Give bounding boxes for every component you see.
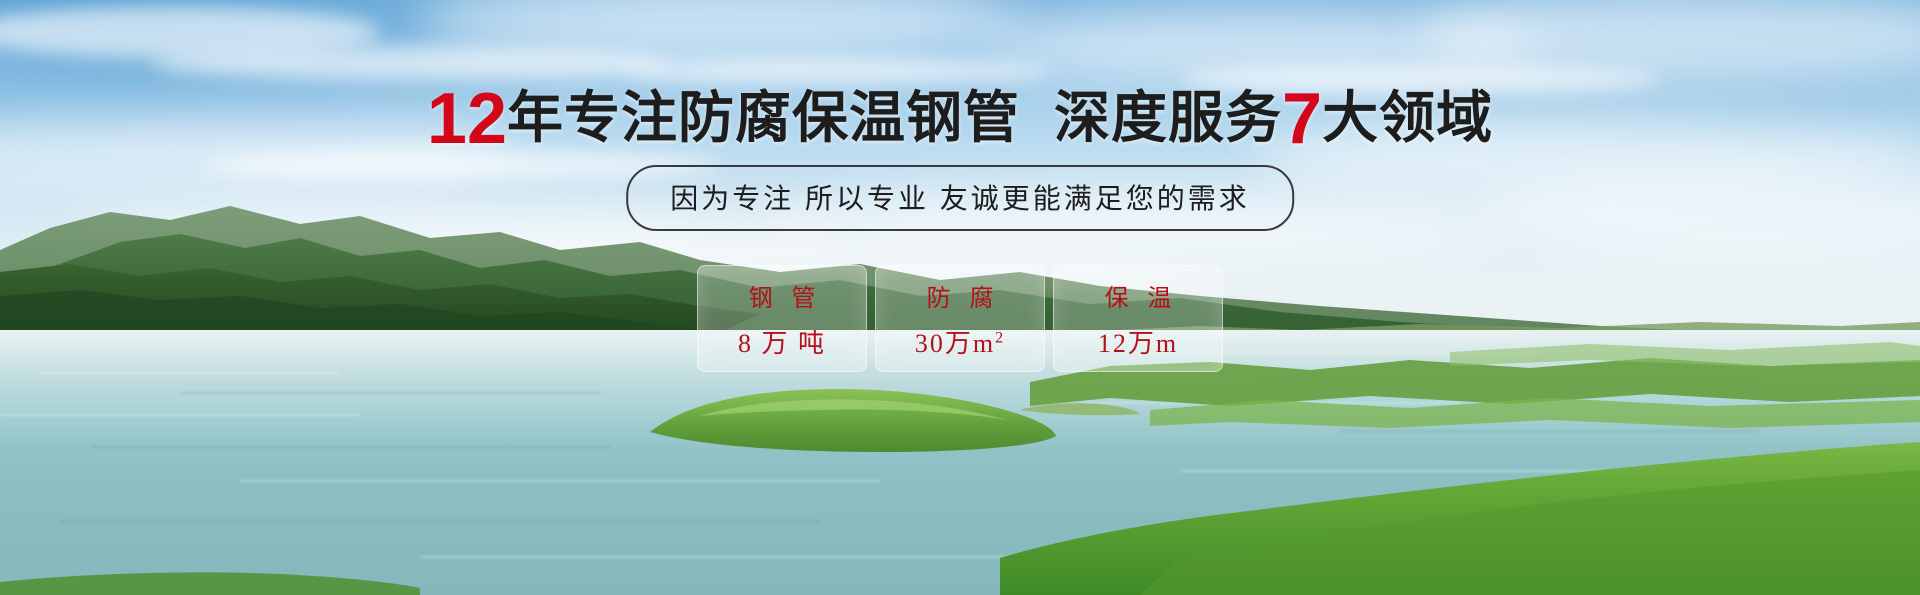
headline: 12年专注防腐保温钢管深度服务7大领域 — [0, 83, 1920, 155]
water-ripple — [60, 520, 820, 522]
stat-card-title: 防 腐 — [921, 278, 1000, 313]
foreground-grass — [1000, 408, 1920, 595]
headline-part-a: 年专注防腐保温钢管 — [507, 86, 1020, 149]
stat-card-anticorrosion[interactable]: 防 腐 30万m2 — [875, 265, 1045, 372]
water-ripple — [240, 480, 880, 482]
stat-card-value: 30万m2 — [915, 323, 1005, 360]
stat-card-steel-pipe[interactable]: 钢 管 8 万 吨 — [697, 265, 867, 372]
headline-part-c: 大领域 — [1322, 86, 1493, 149]
water-ripple — [90, 446, 610, 448]
promo-banner: 12年专注防腐保温钢管深度服务7大领域 因为专注 所以专业 友诚更能满足您的需求… — [0, 0, 1920, 595]
subtitle-pill: 因为专注 所以专业 友诚更能满足您的需求 — [626, 165, 1294, 231]
headline-years-number: 12 — [427, 79, 507, 159]
stat-card-value-superscript: 2 — [995, 329, 1005, 346]
stat-card-value: 8 万 吨 — [738, 323, 826, 360]
stat-card-title: 保 温 — [1099, 278, 1178, 313]
headline-highlight-number: 7 — [1282, 79, 1322, 159]
stat-card-value: 12万m — [1098, 323, 1178, 360]
headline-part-b: 深度服务 — [1054, 86, 1282, 149]
stat-card-value-text: 8 万 吨 — [738, 329, 826, 358]
island-center — [640, 378, 1060, 458]
water-ripple — [0, 414, 360, 416]
water-ripple — [180, 392, 600, 394]
foreground-grass-left — [0, 560, 420, 595]
stat-card-insulation[interactable]: 保 温 12万m — [1053, 265, 1223, 372]
stat-card-value-text: 30万m — [915, 329, 995, 358]
water-ripple — [40, 372, 340, 374]
stat-card-title: 钢 管 — [743, 278, 822, 313]
stat-card-value-text: 12万m — [1098, 329, 1178, 358]
stat-card-group: 钢 管 8 万 吨 防 腐 30万m2 保 温 12万m — [697, 265, 1223, 372]
